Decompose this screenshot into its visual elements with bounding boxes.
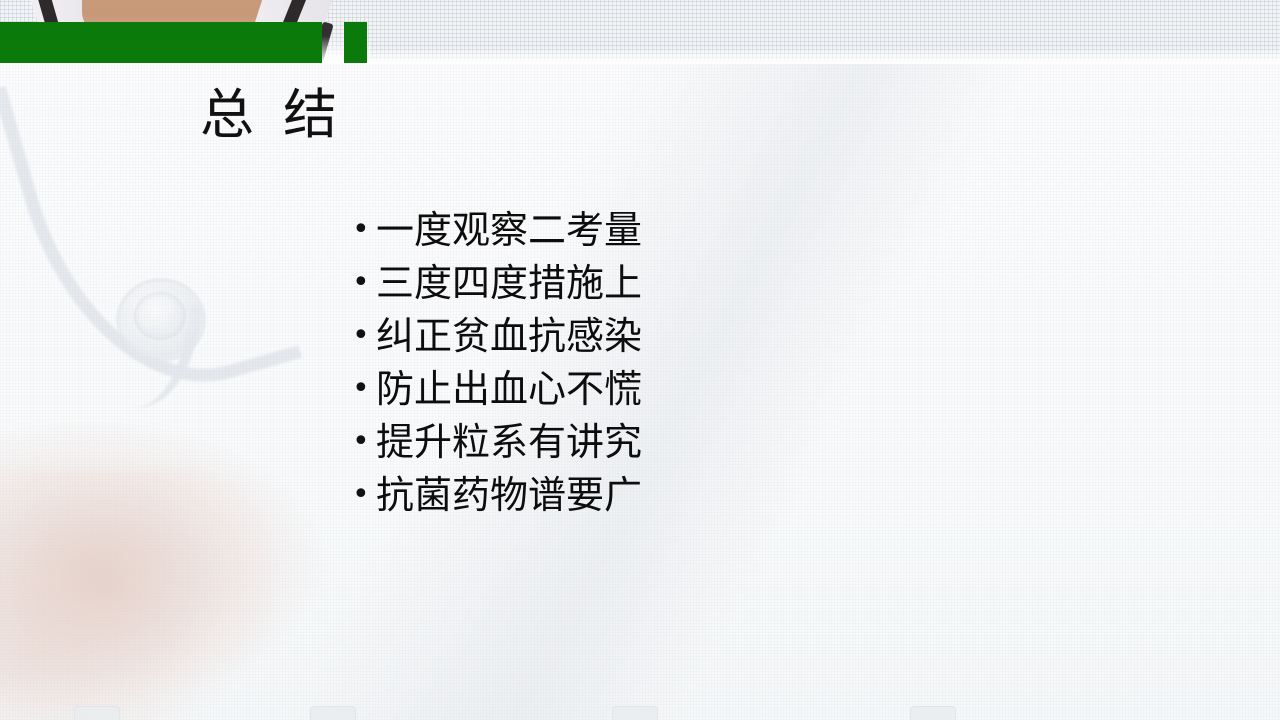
faint-chip	[612, 706, 658, 720]
bullet-marker-icon: •	[352, 472, 376, 518]
green-accent-block	[344, 22, 367, 63]
faint-chip	[910, 706, 956, 720]
bullet-marker-icon: •	[352, 207, 376, 253]
list-item-label: 一度观察二考量	[376, 207, 642, 254]
bullet-list: • 一度观察二考量 • 三度四度措施上 • 纠正贫血抗感染 • 防止出血心不慌 …	[352, 207, 872, 525]
bottom-faint-chips	[0, 702, 1280, 720]
list-item-label: 三度四度措施上	[376, 260, 642, 307]
green-accent-bar	[0, 22, 322, 63]
bullet-marker-icon: •	[352, 419, 376, 465]
faint-chip	[310, 706, 356, 720]
list-item-label: 抗菌药物谱要广	[376, 472, 642, 519]
bullet-marker-icon: •	[352, 260, 376, 306]
list-item: • 抗菌药物谱要广	[352, 472, 872, 525]
list-item: • 提升粒系有讲究	[352, 419, 872, 472]
list-item: • 一度观察二考量	[352, 207, 872, 260]
presentation-slide: 总 结 • 一度观察二考量 • 三度四度措施上 • 纠正贫血抗感染 • 防止出血…	[0, 0, 1280, 720]
list-item-label: 防止出血心不慌	[376, 366, 642, 413]
faint-chip	[74, 706, 120, 720]
slide-title: 总 结	[200, 84, 343, 146]
list-item-label: 提升粒系有讲究	[376, 419, 642, 466]
list-item: • 纠正贫血抗感染	[352, 313, 872, 366]
list-item: • 防止出血心不慌	[352, 366, 872, 419]
list-item: • 三度四度措施上	[352, 260, 872, 313]
bullet-marker-icon: •	[352, 313, 376, 359]
bullet-marker-icon: •	[352, 366, 376, 412]
list-item-label: 纠正贫血抗感染	[376, 313, 642, 360]
